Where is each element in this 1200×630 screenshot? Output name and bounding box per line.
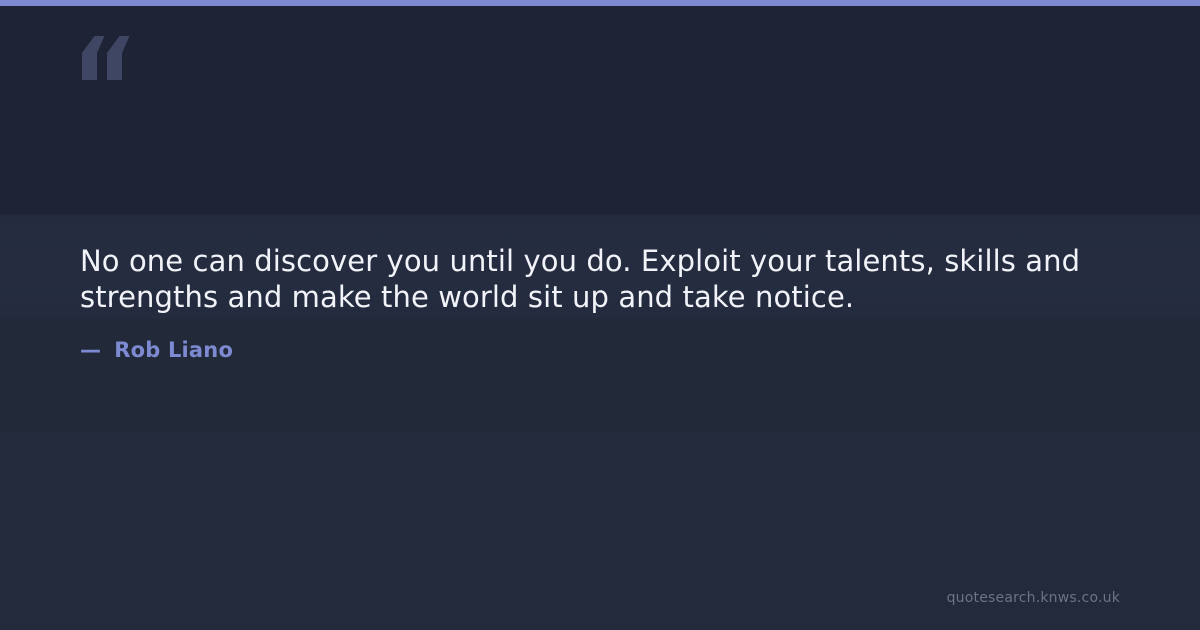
quote-text: No one can discover you until you do. Ex… (80, 243, 1120, 315)
top-accent-bar (0, 0, 1200, 6)
quote-body: No one can discover you until you do. Ex… (80, 243, 1120, 315)
attribution-dash: — (80, 338, 101, 362)
author-name: Rob Liano (114, 338, 233, 362)
opening-quote-icon (80, 36, 132, 80)
quote-card: No one can discover you until you do. Ex… (0, 0, 1200, 630)
attribution: — Rob Liano (80, 338, 233, 362)
source-watermark: quotesearch.knws.co.uk (947, 590, 1120, 606)
